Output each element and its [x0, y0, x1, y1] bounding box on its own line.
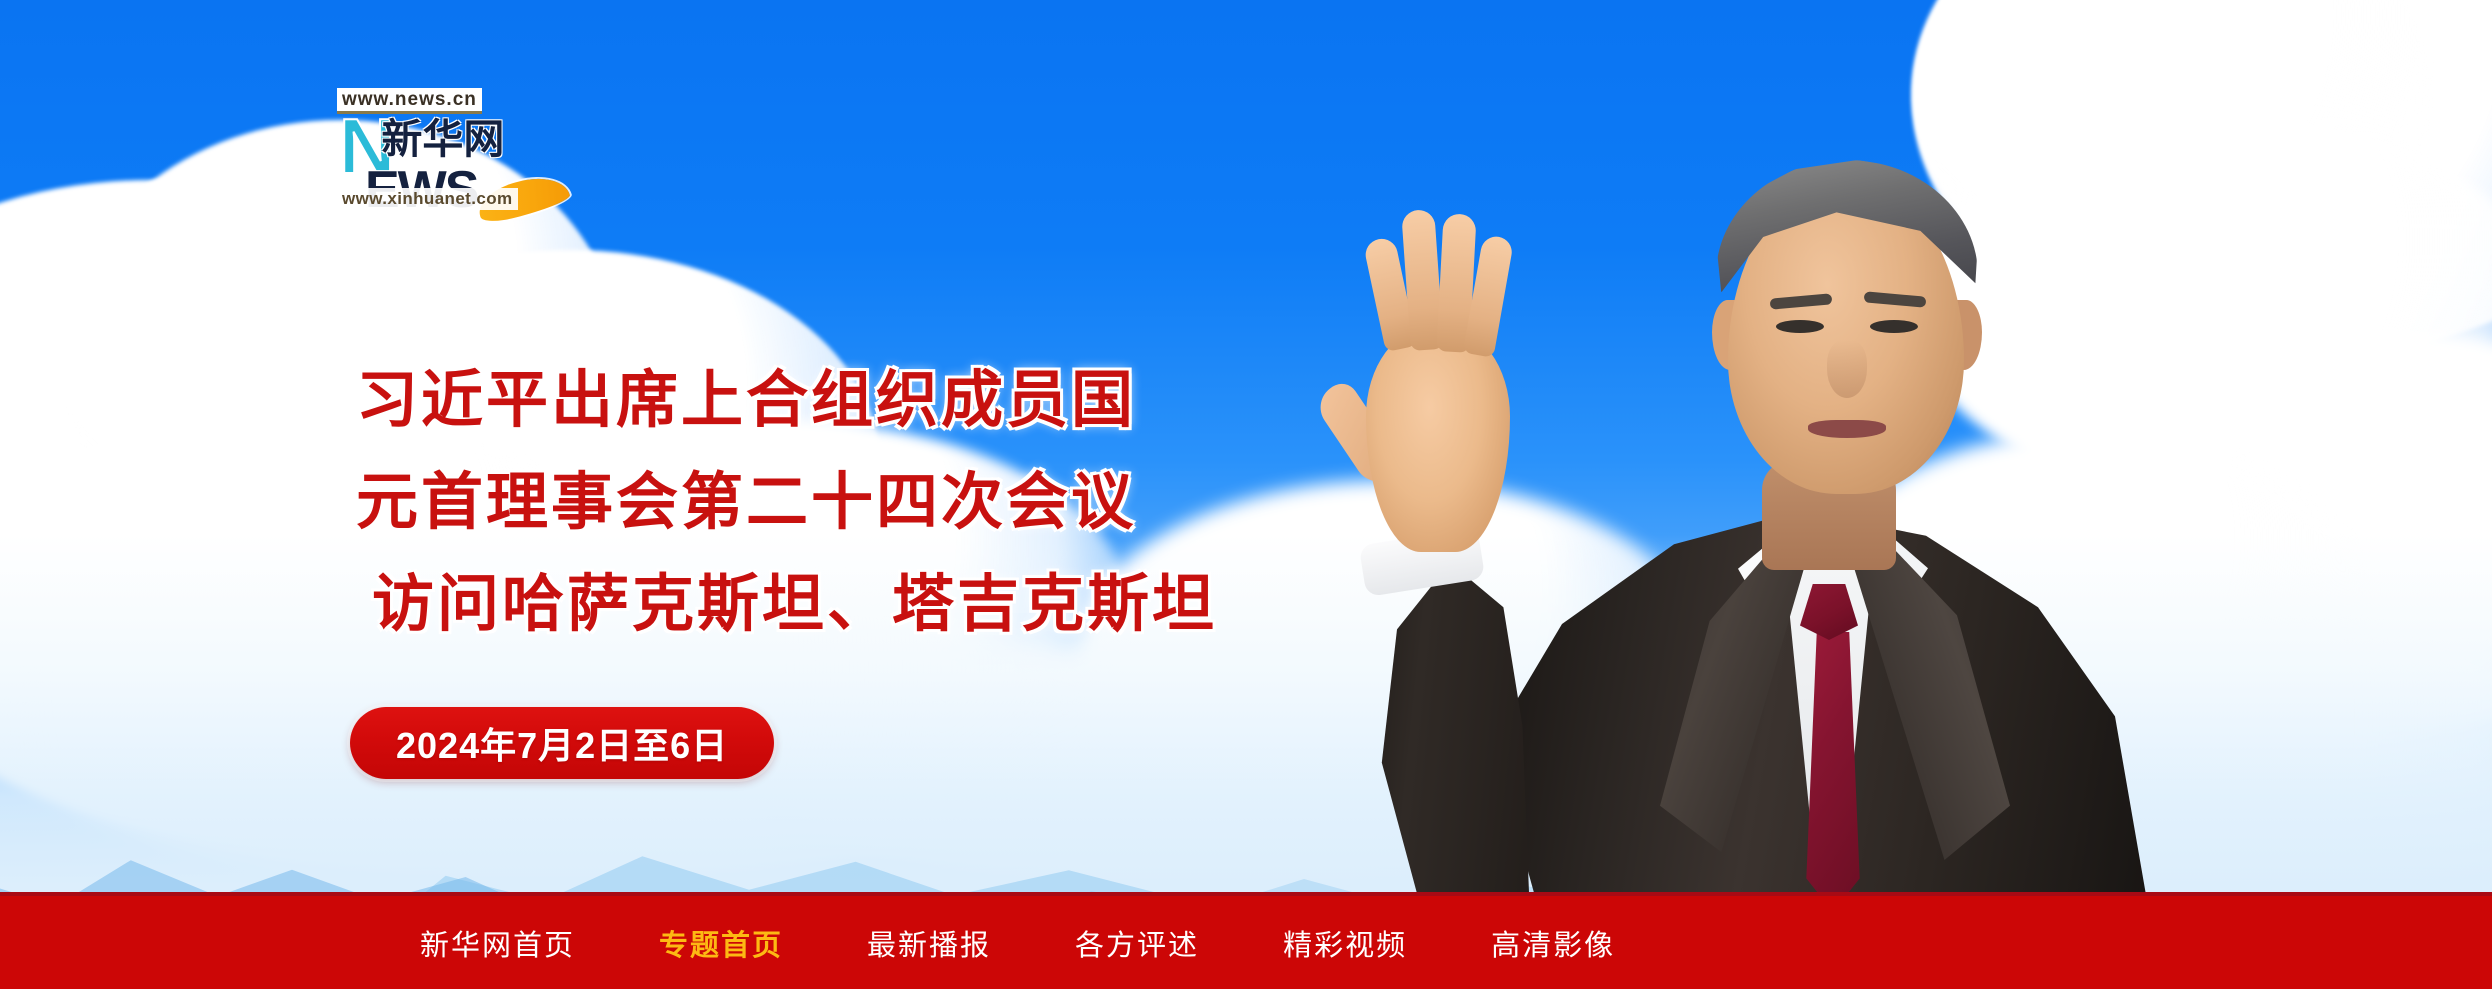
- headline-line-3: 访问哈萨克斯坦、塔吉克斯坦: [372, 556, 1217, 654]
- date-badge-label: 2024年7月2日至6日: [396, 717, 728, 769]
- headline-line-2: 元首理事会第二十四次会议: [356, 454, 1217, 552]
- logo-brand-chinese: 新华网: [381, 119, 504, 161]
- nav-item-latest-reports[interactable]: 最新播报: [867, 912, 991, 974]
- navigation-item-list: 新华网首页 专题首页 最新播报 各方评述 精彩视频 高清影像: [420, 912, 1615, 974]
- nav-item-commentary[interactable]: 各方评述: [1075, 912, 1199, 974]
- headline-line-1: 习近平出席上合组织成员国: [356, 352, 1217, 450]
- news-special-topic-banner: www.news.cn N 新华网 EWS www.xinhuanet.com …: [0, 0, 2492, 989]
- nav-item-topic-home[interactable]: 专题首页: [659, 912, 783, 974]
- logo-url-bottom: www.xinhuanet.com: [337, 188, 518, 210]
- date-badge: 2024年7月2日至6日: [350, 707, 774, 779]
- nav-item-xinhuanet-home[interactable]: 新华网首页: [420, 912, 575, 974]
- nav-item-hd-images[interactable]: 高清影像: [1491, 912, 1615, 974]
- site-navigation-bar: 新华网首页 专题首页 最新播报 各方评述 精彩视频 高清影像: [0, 892, 2492, 989]
- nav-item-videos[interactable]: 精彩视频: [1283, 912, 1407, 974]
- xinhuanet-logo[interactable]: www.news.cn N 新华网 EWS www.xinhuanet.com: [337, 88, 537, 218]
- banner-headline: 习近平出席上合组织成员国 元首理事会第二十四次会议 访问哈萨克斯坦、塔吉克斯坦: [356, 352, 1217, 654]
- logo-wordmark: N 新华网 EWS: [337, 115, 504, 179]
